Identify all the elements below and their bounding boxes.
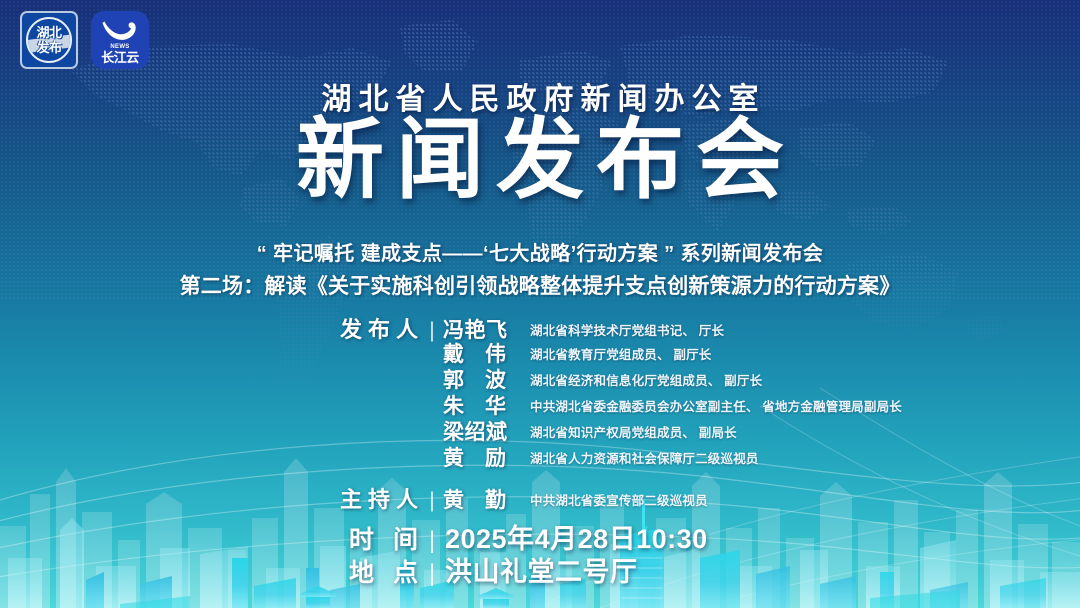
divider-bar: | — [424, 319, 440, 343]
speaker-row: 朱 华 中共湖北省委金融委员会办公室副主任、 省地方金融管理局副局长 — [0, 390, 1080, 416]
swoosh-bird-icon — [99, 19, 141, 45]
news-conference-poster: 湖北 发布 NEWS 长江云 湖北省人民政府新闻办公室 新闻发布会 “ 牢记嘱托… — [0, 0, 1080, 608]
changjiang-cloud-label: 长江云 — [101, 51, 139, 64]
host-name-text: 黄 勤 — [443, 489, 506, 512]
speaker-title: 中共湖北省委金融委员会办公室副主任、 省地方金融管理局副局长 — [522, 396, 1080, 415]
participants-block: 发布人 | 冯艳飞 湖北省科学技术厅党组书记、 厅长 戴 伟 湖北省教育厅党组成… — [0, 312, 1080, 583]
host-title: 中共湖北省委宣传部二级巡视员 — [522, 490, 1080, 509]
divider-bar: | — [424, 560, 440, 588]
host-row: 主持人 | 黄 勤 中共湖北省委宣传部二级巡视员 — [0, 482, 1080, 508]
speaker-name-text: 戴 伟 — [443, 343, 506, 366]
speaker-row: 发布人 | 冯艳飞 湖北省科学技术厅党组书记、 厅长 — [0, 312, 1080, 338]
speaker-row: 黄 励 湖北省人力资源和社会保障厅二级巡视员 — [0, 442, 1080, 468]
place-row: 地 点 | 洪山礼堂二号厅 — [0, 550, 1080, 583]
time-row: 时 间 | 2025年4月28日10:30 — [0, 517, 1080, 550]
logo-group: 湖北 发布 NEWS 长江云 — [20, 11, 149, 69]
speaker-row: 郭 波 湖北省经济和信息化厅党组成员、 副厅长 — [0, 364, 1080, 390]
speaker-name-text: 朱 华 — [443, 395, 506, 418]
speakers-label: 发布人 — [0, 312, 424, 344]
host-name: 黄 勤 — [440, 484, 522, 514]
page-title: 新闻发布会 — [0, 113, 1080, 206]
series-subtitle: “ 牢记嘱托 建成支点——‘七大战略’行动方案 ” 系列新闻发布会 — [0, 237, 1080, 266]
session-subtitle: 第二场：解读《关于实施科创引领战略整体提升支点创新策源力的行动方案》 — [0, 270, 1080, 300]
changjiang-cloud-logo[interactable]: NEWS 长江云 — [91, 11, 149, 69]
speaker-name: 黄 励 — [440, 442, 522, 472]
divider-bar: | — [424, 489, 440, 513]
changjiang-news-label: NEWS — [110, 44, 129, 50]
speaker-row: 梁绍斌 湖北省知识产权局党组成员、 副局长 — [0, 416, 1080, 442]
speaker-title: 湖北省知识产权局党组成员、 副局长 — [522, 422, 1080, 441]
speaker-title: 湖北省经济和信息化厅党组成员、 副厅长 — [522, 370, 1080, 389]
speaker-title: 湖北省教育厅党组成员、 副厅长 — [522, 344, 1080, 363]
hubei-release-logo[interactable]: 湖北 发布 — [20, 11, 78, 69]
time-label: 时 间 — [0, 520, 424, 556]
speaker-title: 湖北省科学技术厅党组书记、 厅长 — [522, 320, 1080, 339]
place-label: 地 点 — [0, 553, 424, 589]
hubei-release-line1: 湖北 — [36, 26, 61, 39]
speaker-name-text: 郭 波 — [443, 369, 506, 392]
speaker-name-text: 黄 励 — [443, 447, 506, 470]
host-label: 主持人 — [0, 482, 424, 514]
speaker-title: 湖北省人力资源和社会保障厅二级巡视员 — [522, 448, 1080, 467]
hubei-release-line2: 发布 — [36, 41, 61, 54]
hubei-release-circle: 湖北 发布 — [26, 17, 72, 63]
divider-bar: | — [424, 527, 440, 555]
place-value: 洪山礼堂二号厅 — [440, 550, 638, 589]
